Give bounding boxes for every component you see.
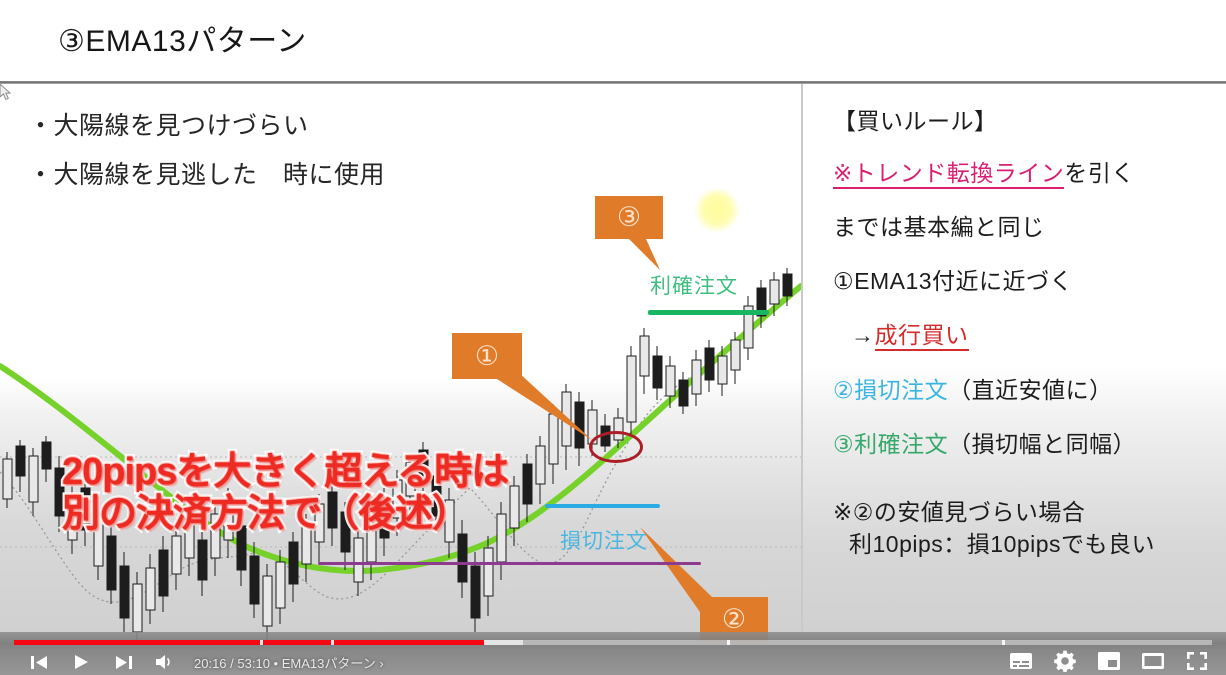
slide-body: 利確注文 損切注文 ③ ① ② ・大陽線を見つけづらい ・大陽線を見逃した 時に… — [0, 84, 1226, 649]
rule-step-1-action: →成行買い — [851, 316, 969, 350]
miniplayer-icon[interactable] — [1094, 648, 1124, 674]
rule-step-2: ②損切注文（直近安値に） — [833, 371, 1113, 405]
entry-circle-marker — [589, 431, 643, 463]
video-player-page: ③EMA13パターン — [0, 0, 1226, 675]
chapter-dot: • — [270, 656, 282, 671]
rule-step-1: ①EMA13付近に近づく — [833, 262, 1073, 296]
trend-line-tail: を引く — [1064, 160, 1135, 186]
chapter-divider — [331, 640, 334, 645]
cursor-highlight-glow — [694, 188, 740, 232]
bullet-list: ・大陽線を見つけづらい ・大陽線を見逃した 時に使用 — [28, 102, 548, 200]
chapter-chevron-icon[interactable]: › — [379, 656, 383, 671]
fullscreen-icon[interactable] — [1182, 648, 1212, 674]
rule-step-2-title: ②損切注文 — [833, 377, 948, 403]
progress-bar-track[interactable] — [14, 640, 1212, 645]
take-profit-label: 利確注文 — [650, 270, 738, 300]
headline-line-2: 別の決済方法で（後述） — [62, 482, 469, 537]
callout-1-box: ① — [452, 333, 522, 379]
take-profit-line — [648, 310, 769, 315]
rules-heading: 【買いルール】 — [833, 102, 998, 136]
total-duration: 53:10 — [237, 656, 270, 671]
buy-rules-panel: 【買いルール】 ※トレンド転換ラインを引く までは基本編と同じ ①EMA13付近… — [803, 84, 1226, 649]
theater-mode-icon[interactable] — [1138, 648, 1168, 674]
volume-button[interactable] — [144, 650, 186, 674]
next-video-button[interactable] — [102, 650, 144, 674]
callout-1-label: ① — [452, 333, 522, 379]
rule-step-2-note: （直近安値に） — [948, 377, 1113, 403]
rule-same-as-basics: までは基本編と同じ — [833, 208, 1045, 242]
right-controls — [1006, 648, 1212, 674]
bullet-item-2: ・大陽線を見逃した 時に使用 — [28, 151, 548, 200]
progress-bar-played — [14, 640, 484, 645]
bullet-item-1: ・大陽線を見つけづらい — [28, 102, 548, 151]
rule-note-1: ※②の安値見づらい場合 — [833, 493, 1085, 527]
rule-step-3-note: （損切幅と同幅） — [948, 431, 1136, 457]
chapter-divider — [260, 640, 263, 645]
arrow-glyph: → — [851, 322, 875, 348]
page-title: ③EMA13パターン — [58, 16, 307, 60]
market-buy-link: 成行買い — [875, 322, 969, 351]
rule-step-3: ③利確注文（損切幅と同幅） — [833, 425, 1136, 459]
time-separator: / — [227, 656, 238, 671]
slide-header: ③EMA13パターン — [0, 0, 1226, 83]
time-and-chapter-display: 20:16 / 53:10 • EMA13パターン › — [194, 653, 384, 672]
callout-3-tail — [629, 239, 660, 270]
settings-gear-icon[interactable] — [1050, 648, 1080, 674]
play-button[interactable] — [60, 650, 102, 674]
stop-loss-label: 損切注文 — [560, 525, 648, 555]
mouse-cursor-icon — [0, 84, 14, 102]
callout-3-label: ③ — [595, 196, 663, 239]
rule-note-2: 利10pips：損10pipsでも良い — [849, 525, 1155, 559]
chapter-title[interactable]: EMA13パターン — [282, 656, 376, 671]
chapter-divider — [727, 640, 730, 645]
stop-loss-line — [545, 504, 660, 508]
rule-trend-line: ※トレンド転換ラインを引く — [833, 154, 1135, 188]
video-player-controls: 20:16 / 53:10 • EMA13パターン › — [0, 632, 1226, 675]
trend-line-link: ※トレンド転換ライン — [833, 160, 1064, 189]
subtitles-icon[interactable] — [1006, 648, 1036, 674]
previous-video-button[interactable] — [18, 650, 60, 674]
left-controls: 20:16 / 53:10 • EMA13パターン › — [18, 650, 384, 674]
current-time: 20:16 — [194, 656, 227, 671]
rule-step-3-title: ③利確注文 — [833, 431, 948, 457]
entry-level-line — [318, 562, 701, 565]
chapter-divider — [1002, 640, 1005, 645]
callout-3-box: ③ — [595, 196, 663, 239]
